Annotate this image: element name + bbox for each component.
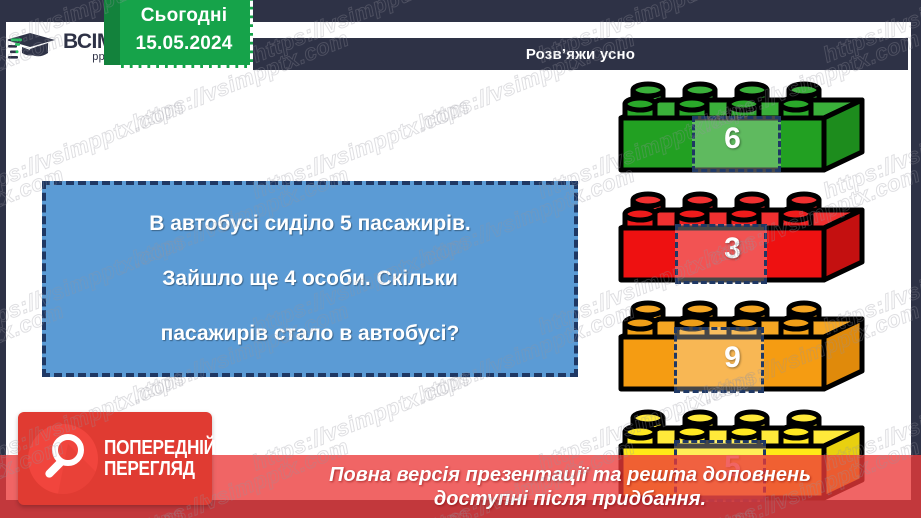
question-line-2: Зайшло ще 4 особи. Скільки xyxy=(162,267,458,291)
green-brick: 6 xyxy=(619,78,864,178)
magnifier-icon xyxy=(28,424,98,494)
date-badge: Сьогодні 15.05.2024 xyxy=(115,0,253,68)
date-badge-value: 15.05.2024 xyxy=(135,30,232,58)
green-brick-highlight xyxy=(692,116,781,172)
preview-banner-line-1: Повна версія презентації та решта доповн… xyxy=(285,463,855,487)
preview-banner-text: Повна версія презентації та решта доповн… xyxy=(285,463,855,511)
question-line-1: В автобусі сиділо 5 пасажирів. xyxy=(149,212,471,236)
question-line-3: пасажирів стало в автобусі? xyxy=(161,322,460,346)
preview-badge: ПОПЕРЕДНІЙ ПЕРЕГЛЯД xyxy=(18,412,212,505)
page-title: Розв’яжи усно xyxy=(526,46,635,63)
orange-brick: 9 xyxy=(619,297,864,397)
graduation-cap-icon xyxy=(8,29,60,67)
preview-badge-line-1: ПОПЕРЕДНІЙ xyxy=(104,438,216,458)
red-brick: 3 xyxy=(619,188,864,288)
preview-badge-line-2: ПЕРЕГЛЯД xyxy=(104,459,216,479)
lego-brick-stack: 6 xyxy=(619,78,879,518)
question-textbox: В автобусі сиділо 5 пасажирів. Зайшло ще… xyxy=(42,181,578,377)
slide-stage: ВСІМ pptx Сьогодні 15.05.2024 Розв’яжи у… xyxy=(0,0,921,518)
slide-header-bar: Розв’яжи усно xyxy=(253,38,908,70)
red-brick-highlight xyxy=(675,224,767,284)
preview-banner-line-2: доступні після придбання. xyxy=(285,487,855,511)
date-badge-label: Сьогодні xyxy=(141,2,227,30)
orange-brick-highlight xyxy=(674,327,764,393)
